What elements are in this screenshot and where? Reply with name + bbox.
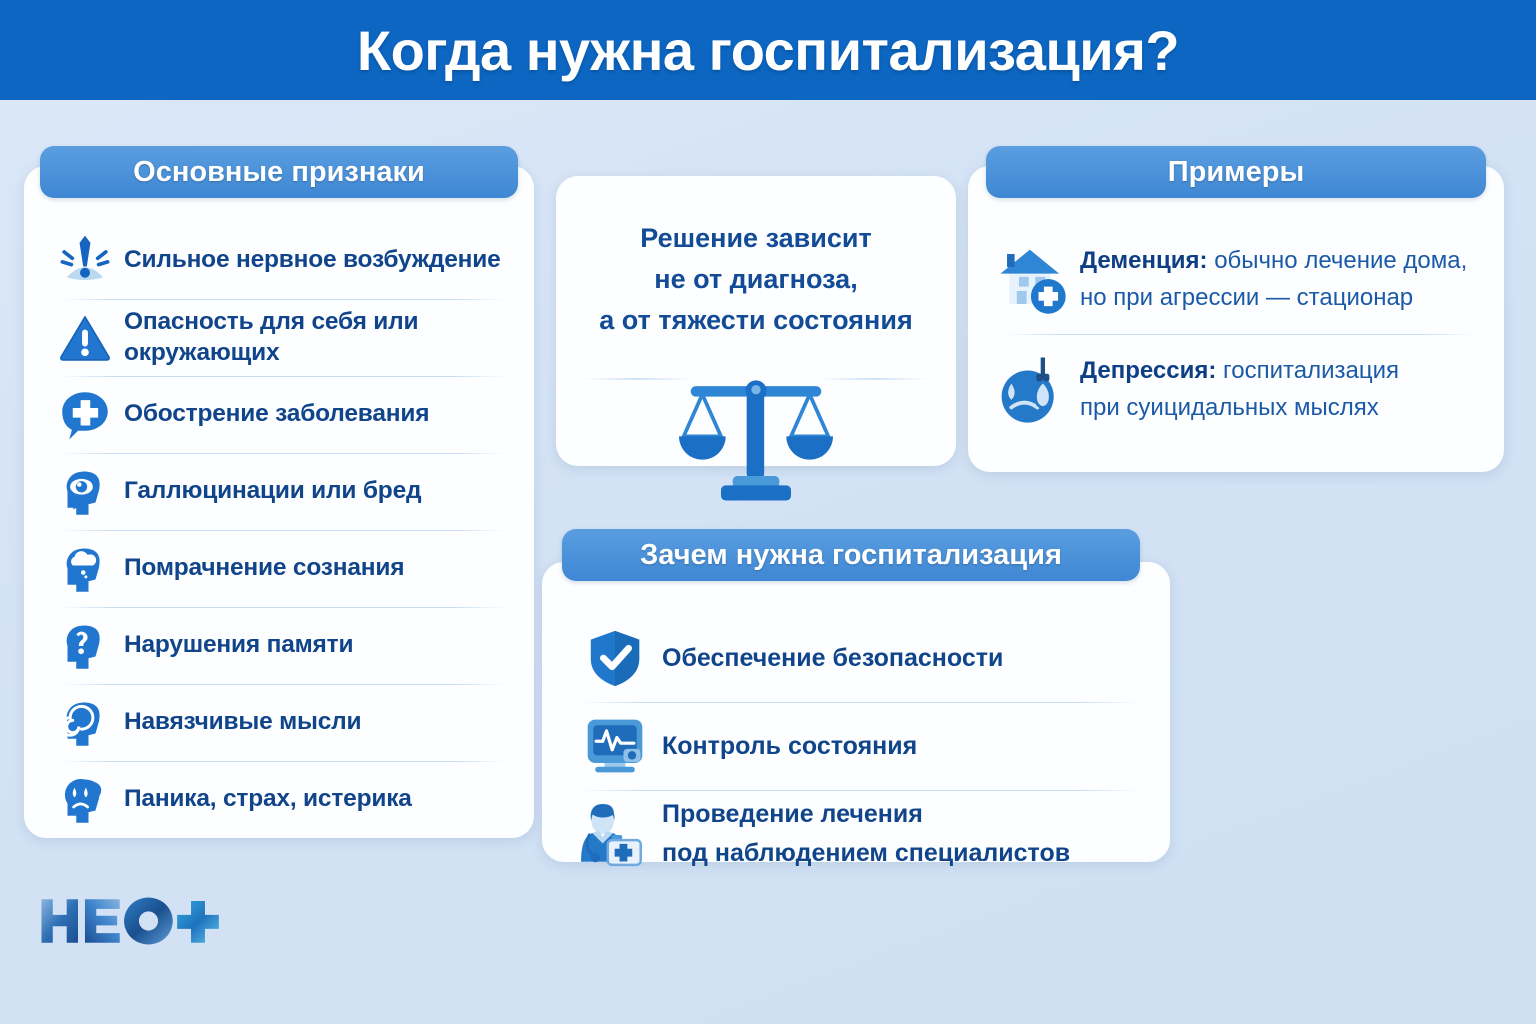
- list-item-label: Паника, страх, истерика: [124, 784, 412, 815]
- list-item[interactable]: Нарушения памяти: [24, 607, 534, 684]
- balance-scale-icon: [674, 364, 839, 509]
- why-panel-title: Зачем нужна госпитализация: [640, 539, 1062, 572]
- list-item[interactable]: Обеспечение безопасности: [542, 614, 1170, 702]
- example-line-2: при суицидальных мыслях: [1080, 389, 1399, 426]
- warning-triangle-icon: [54, 307, 116, 369]
- example-line-2: но при агрессии — стационар: [1080, 279, 1467, 316]
- why-line-2: под наблюдением специалистов: [662, 834, 1070, 873]
- list-item[interactable]: Паника, страх, истерика: [24, 761, 534, 838]
- why-panel: Обеспечение безопасности К: [542, 562, 1170, 862]
- list-item-label: Обострение заболевания: [124, 399, 429, 430]
- head-question-icon: [54, 615, 116, 677]
- head-eye-icon: [54, 461, 116, 523]
- why-text: Обеспечение безопасности: [662, 639, 1003, 678]
- decision-line-2: не от диагноза,: [556, 259, 956, 300]
- head-sad-face-icon: [54, 769, 116, 831]
- list-item[interactable]: Контроль состояния: [542, 702, 1170, 790]
- examples-panel-title: Примеры: [1168, 156, 1304, 189]
- head-cloud-icon: [54, 538, 116, 600]
- exclamation-burst-icon: [54, 230, 116, 292]
- why-text: Контроль состояния: [662, 727, 917, 766]
- decision-line-3: а от тяжести состояния: [556, 300, 956, 341]
- example-term: Депрессия:: [1080, 357, 1216, 384]
- list-item[interactable]: Навязчивые мысли: [24, 684, 534, 761]
- examples-panel-header: Примеры: [986, 146, 1486, 198]
- why-line-1: Контроль состояния: [662, 727, 917, 766]
- example-detail: госпитализация: [1216, 357, 1399, 384]
- signs-panel-header: Основные признаки: [40, 146, 518, 198]
- example-detail: обычно лечение дома,: [1208, 247, 1468, 274]
- signs-list: Сильное нервное возбуждение Опасность дл…: [24, 222, 534, 838]
- list-item[interactable]: Галлюцинации или бред: [24, 453, 534, 530]
- doctor-kit-icon: [578, 797, 652, 871]
- list-item[interactable]: Деменция: обычно лечение дома, но при аг…: [968, 224, 1504, 334]
- medical-cross-bubble-icon: [54, 384, 116, 446]
- example-term: Деменция:: [1080, 247, 1208, 274]
- signs-panel: Сильное нервное возбуждение Опасность дл…: [24, 166, 534, 838]
- decision-line-1: Решение зависит: [556, 218, 956, 259]
- why-panel-header: Зачем нужна госпитализация: [562, 529, 1140, 581]
- page-title: Когда нужна госпитализация?: [357, 18, 1179, 83]
- header-bar: Когда нужна госпитализация?: [0, 0, 1536, 100]
- house-plus-icon: [992, 239, 1072, 319]
- list-item[interactable]: Депрессия: госпитализация при суицидальн…: [968, 334, 1504, 444]
- list-item[interactable]: Обострение заболевания: [24, 376, 534, 453]
- list-item-label: Нарушения памяти: [124, 630, 353, 661]
- list-item[interactable]: Опасность для себя или окружающих: [24, 299, 534, 376]
- examples-panel: Деменция: обычно лечение дома, но при аг…: [968, 166, 1504, 472]
- examples-list: Деменция: обычно лечение дома, но при аг…: [968, 224, 1504, 444]
- signs-panel-title: Основные признаки: [133, 156, 425, 189]
- logo: [38, 890, 238, 952]
- list-item-label: Сильное нервное возбуждение: [124, 245, 501, 276]
- list-item[interactable]: Сильное нервное возбуждение: [24, 222, 534, 299]
- list-item-label: Опасность для себя или окружающих: [124, 307, 516, 368]
- why-line-1: Обеспечение безопасности: [662, 639, 1003, 678]
- why-list: Обеспечение безопасности К: [542, 614, 1170, 878]
- list-item-label: Помрачнение сознания: [124, 553, 404, 584]
- list-item-label: Галлюцинации или бред: [124, 476, 421, 507]
- list-item[interactable]: Проведение лечения под наблюдением специ…: [542, 790, 1170, 878]
- decision-text: Решение зависит не от диагноза, а от тяж…: [556, 218, 956, 341]
- list-item[interactable]: Помрачнение сознания: [24, 530, 534, 607]
- why-text: Проведение лечения под наблюдением специ…: [662, 795, 1070, 873]
- shield-check-icon: [578, 621, 652, 695]
- sad-face-noose-icon: [992, 349, 1072, 429]
- heart-monitor-icon: [578, 709, 652, 783]
- list-item-label: Навязчивые мысли: [124, 707, 361, 738]
- decision-card: Решение зависит не от диагноза, а от тяж…: [556, 176, 956, 466]
- why-line-1: Проведение лечения: [662, 795, 1070, 834]
- example-text: Деменция: обычно лечение дома, но при аг…: [1080, 242, 1467, 316]
- example-text: Депрессия: госпитализация при суицидальн…: [1080, 352, 1399, 426]
- head-spiral-icon: [54, 692, 116, 754]
- infographic-canvas: Когда нужна госпитализация?: [0, 0, 1536, 1024]
- logo-mark: [38, 893, 238, 949]
